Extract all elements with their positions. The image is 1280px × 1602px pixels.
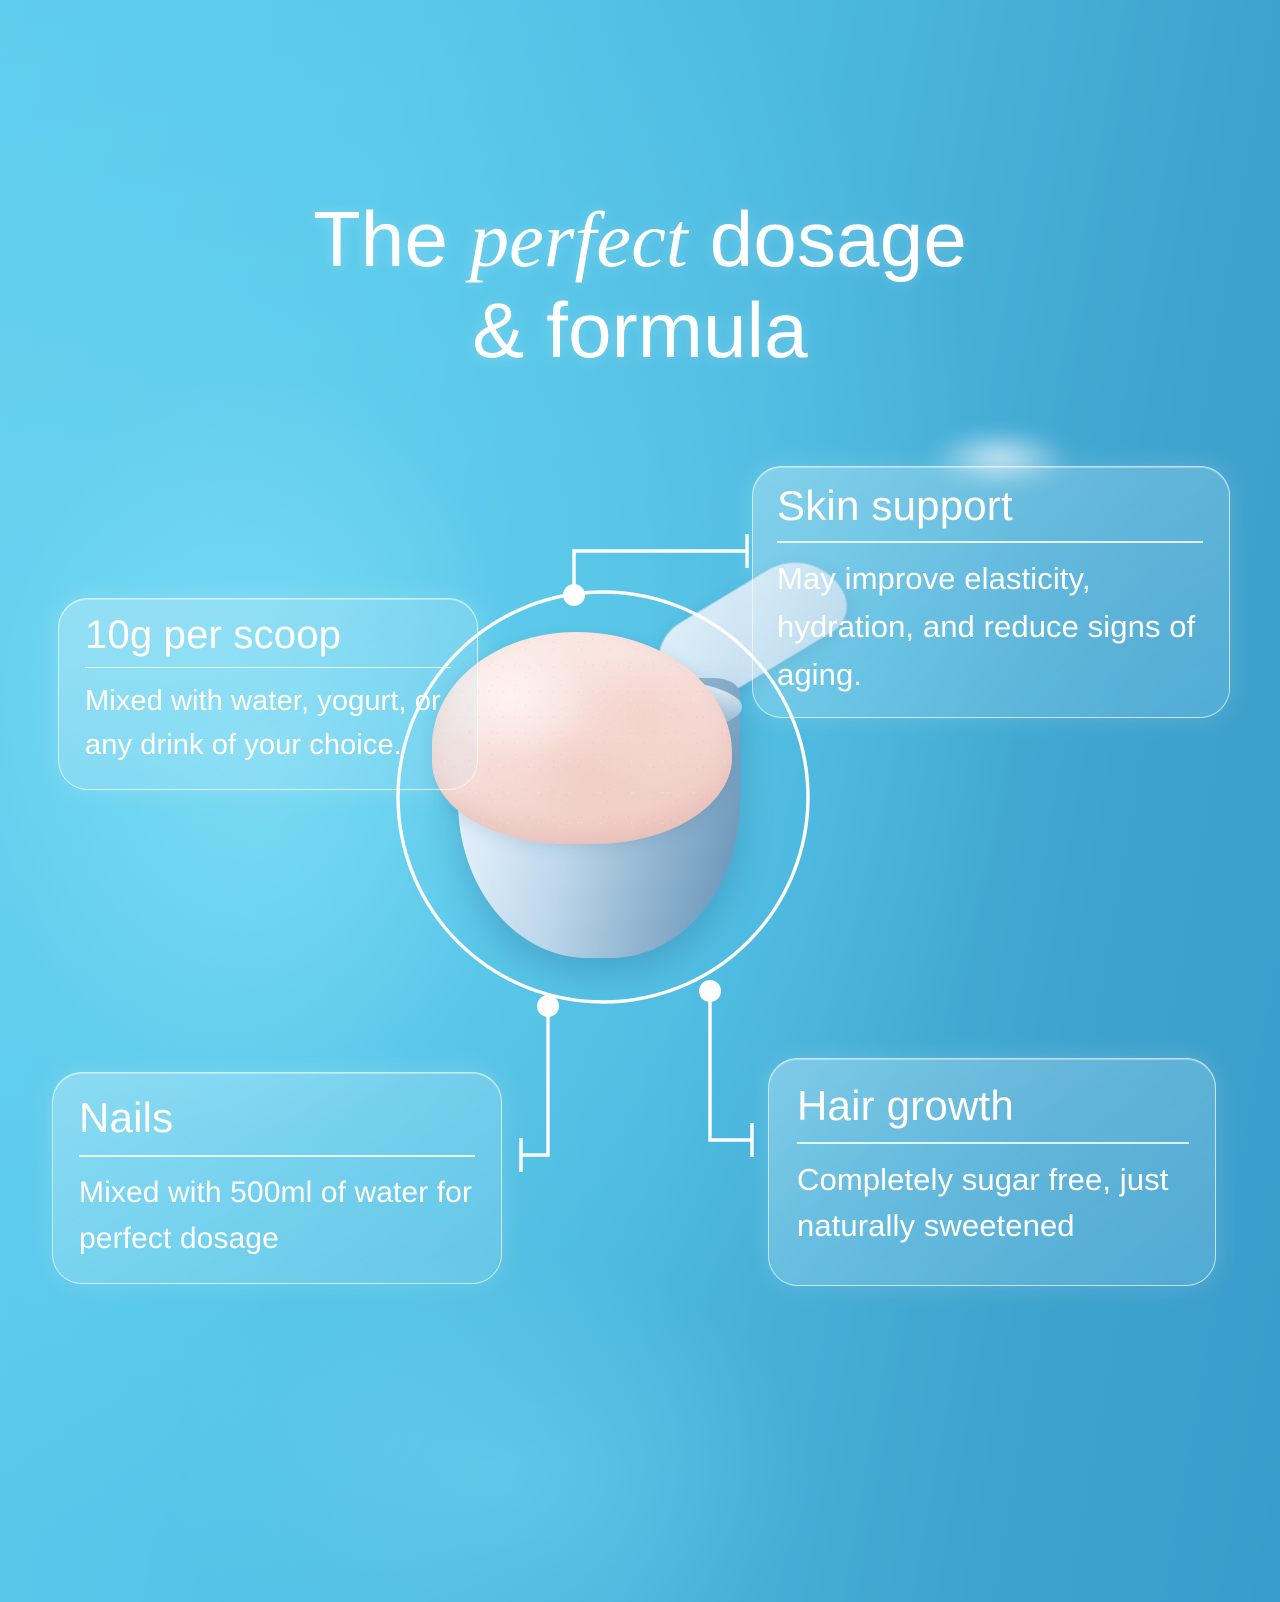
card-nails-title: Nails xyxy=(79,1095,475,1141)
connector-nails xyxy=(521,1006,548,1155)
card-skin-support[interactable]: Skin support May improve elasticity, hyd… xyxy=(752,466,1230,718)
connector-nodes xyxy=(537,584,721,1017)
card-skin-support-body: May improve elasticity, hydration, and r… xyxy=(777,555,1203,700)
card-hair-growth[interactable]: Hair growth Completely sugar free, just … xyxy=(768,1058,1216,1286)
connector-diagram xyxy=(0,0,1280,1602)
card-hair-growth-title: Hair growth xyxy=(797,1083,1189,1129)
connector-skin xyxy=(574,551,747,595)
card-nails-body: Mixed with 500ml of water for perfect do… xyxy=(79,1170,475,1262)
card-skin-support-title: Skin support xyxy=(777,483,1203,529)
card-dosage[interactable]: 10g per scoop Mixed with water, yogurt, … xyxy=(58,598,478,790)
card-skin-support-divider xyxy=(777,541,1203,542)
card-dosage-body: Mixed with water, yogurt, or any drink o… xyxy=(85,680,451,767)
infographic-canvas: The perfect dosage & formula xyxy=(0,0,1280,1602)
card-dosage-title: 10g per scoop xyxy=(85,613,451,657)
card-nails-divider xyxy=(79,1155,475,1156)
connector-hair xyxy=(710,991,752,1140)
card-hair-growth-divider xyxy=(797,1142,1189,1143)
card-hair-growth-body: Completely sugar free, just naturally sw… xyxy=(797,1157,1189,1250)
node-hair-dot xyxy=(699,980,721,1002)
card-dosage-divider xyxy=(85,667,451,668)
node-skin-dot xyxy=(563,584,585,606)
node-nails-dot xyxy=(537,995,559,1017)
card-nails[interactable]: Nails Mixed with 500ml of water for perf… xyxy=(52,1072,502,1284)
